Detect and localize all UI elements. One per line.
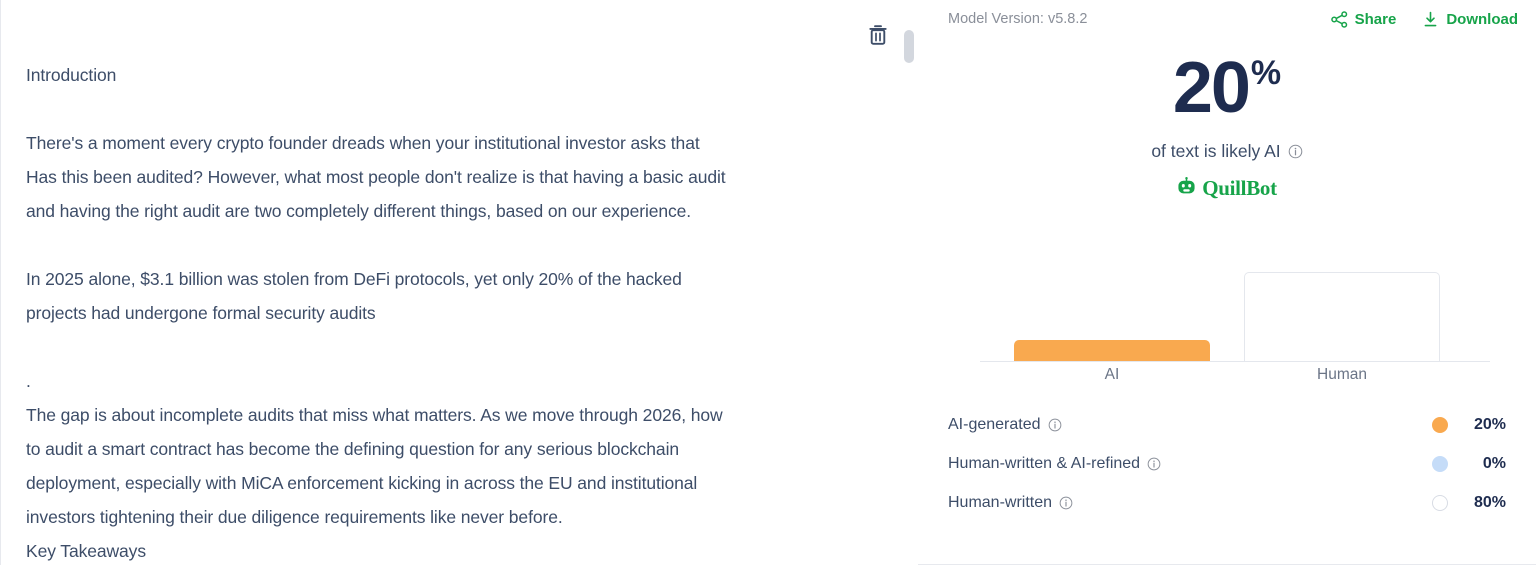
score-block: 20 % of text is likely AI [918,52,1536,201]
legend-row-human-written[interactable]: Human-written 80% [948,483,1506,522]
score-unit: % [1251,56,1281,90]
legend-label-text: Human-written & AI-refined [948,455,1140,473]
legend-label-text: AI-generated [948,416,1041,434]
score-caption-text: of text is likely AI [1151,141,1280,162]
info-icon[interactable] [1147,457,1161,471]
legend-row-human-written-ai-refined[interactable]: Human-written & AI-refined 0% [948,444,1506,483]
download-label: Download [1446,11,1518,28]
detection-legend: AI-generated 20% Human-written & AI-refi… [918,405,1536,522]
quillbot-brand: QuillBot [918,176,1536,201]
bar-ai-fill [1014,340,1210,362]
bar-human [1244,250,1440,362]
bar-human-fill [1244,272,1440,362]
paragraph-spacer [26,228,851,262]
paragraph-line: projects had undergone formal security a… [26,296,851,330]
legend-color-dot [1432,417,1448,433]
share-label: Share [1355,11,1397,28]
legend-label: AI-generated [948,416,1432,434]
paragraph-line: deployment, especially with MiCA enforce… [26,466,851,500]
paragraph-spacer [26,330,851,364]
bar-ai [1014,250,1210,362]
share-button[interactable]: Share [1331,11,1397,28]
paragraph-line: investors tightening their due diligence… [26,500,851,534]
legend-label: Human-written [948,494,1432,512]
legend-color-dot [1432,495,1448,511]
bar-label-human: Human [1244,366,1440,384]
result-header: Model Version: v5.8.2 Share [918,0,1536,38]
paragraph-line: In 2025 alone, $3.1 billion was stolen f… [26,262,851,296]
editor-textarea[interactable]: Introduction There's a moment every cryp… [1,0,891,565]
download-button[interactable]: Download [1422,11,1518,28]
legend-percent: 20% [1461,416,1506,434]
legend-color-dot [1432,456,1448,472]
paragraph-line: Has this been audited? However, what mos… [26,160,851,194]
legend-percent: 80% [1461,494,1506,512]
score-caption: of text is likely AI [918,141,1536,162]
score-number-row: 20 % [918,52,1536,124]
ai-human-bar-chart: AI Human [918,250,1536,390]
ai-detection-result-panel: Model Version: v5.8.2 Share [918,0,1536,565]
paragraph-period: . [26,364,851,398]
trash-icon [868,24,888,46]
editor-scrollbar[interactable] [901,0,917,565]
legend-row-ai-generated[interactable]: AI-generated 20% [948,405,1506,444]
quillbot-brand-name: QuillBot [1202,176,1277,201]
quillbot-ai-detector-screen: Introduction There's a moment every cryp… [0,0,1536,565]
paragraph-heading-key-takeaways: Key Takeaways [26,534,851,565]
scrollbar-thumb[interactable] [904,30,914,63]
paragraph-heading-introduction: Introduction [26,58,851,92]
legend-percent: 0% [1461,455,1506,473]
model-version-label: Model Version: v5.8.2 [948,11,1305,27]
paragraph-line: and having the right audit are two compl… [26,194,851,228]
paragraph-line: There's a moment every crypto founder dr… [26,126,851,160]
delete-button[interactable] [863,20,893,50]
info-icon[interactable] [1048,418,1062,432]
paragraph-line: The gap is about incomplete audits that … [26,398,851,432]
score-value: 20 [1173,52,1249,124]
paragraph-line: to audit a smart contract has become the… [26,432,851,466]
legend-label-text: Human-written [948,494,1052,512]
chart-plot-area [980,250,1474,362]
bar-label-ai: AI [1014,366,1210,384]
download-icon [1422,11,1439,28]
editor-panel: Introduction There's a moment every cryp… [0,0,918,565]
share-icon [1331,11,1348,28]
quillbot-robot-icon [1177,177,1196,201]
chart-baseline [980,361,1490,362]
paragraph-spacer [26,92,851,126]
info-icon[interactable] [1288,144,1303,159]
legend-label: Human-written & AI-refined [948,455,1432,473]
info-icon[interactable] [1059,496,1073,510]
